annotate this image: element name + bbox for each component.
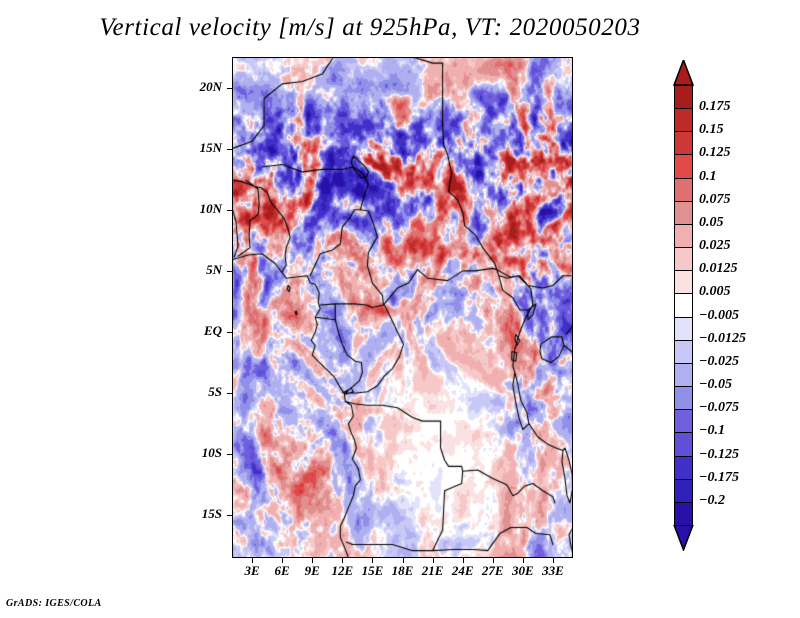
colorbar-segment [674,456,693,480]
y-axis-label: 20N [162,79,222,95]
y-axis-label: 5N [162,262,222,278]
y-axis-label: 10N [162,201,222,217]
colorbar-segment [674,108,693,132]
vertical-velocity-field [232,57,573,558]
y-axis-tick [227,515,232,516]
y-axis-tick [227,393,232,394]
map-plot-area [232,57,573,558]
colorbar-segment [674,317,693,341]
colorbar-segment [674,85,693,109]
y-axis-label: 5S [162,384,222,400]
page-title: Vertical velocity [m/s] at 925hPa, VT: 2… [0,14,740,42]
colorbar-tick-label: 0.005 [699,284,731,300]
colorbar-segment [674,409,693,433]
colorbar-tick-label: 0.0125 [699,261,738,277]
colorbar-segment [674,224,693,248]
colorbar-tick-label: −0.125 [699,447,739,463]
y-axis-label: 15N [162,140,222,156]
colorbar [674,85,693,525]
colorbar-tick-label: −0.005 [699,308,739,324]
colorbar-segment [674,363,693,387]
colorbar-segment [674,247,693,271]
x-axis-label: 33E [533,563,573,579]
y-axis-label: EQ [162,323,222,339]
colorbar-tick-label: −0.075 [699,400,739,416]
colorbar-tick-label: 0.125 [699,145,731,161]
colorbar-min-arrow-icon [673,525,694,551]
colorbar-segment [674,502,693,526]
y-axis-tick [227,88,232,89]
colorbar-segment [674,178,693,202]
colorbar-tick-label: −0.05 [699,377,732,393]
colorbar-tick-label: −0.175 [699,470,739,486]
colorbar-segment [674,340,693,364]
footer-credit: GrADS: IGES/COLA [6,598,102,609]
y-axis-tick [227,149,232,150]
colorbar-tick-label: −0.025 [699,354,739,370]
colorbar-tick-label: 0.075 [699,192,731,208]
y-axis-tick [227,271,232,272]
y-axis-tick [227,454,232,455]
colorbar-segment [674,432,693,456]
colorbar-tick-label: −0.1 [699,423,725,439]
colorbar-segment [674,201,693,225]
colorbar-tick-label: 0.15 [699,122,724,138]
colorbar-tick-label: 0.1 [699,169,717,185]
colorbar-max-arrow-icon [673,60,694,86]
colorbar-segment [674,154,693,178]
y-axis-tick [227,332,232,333]
colorbar-tick-label: 0.05 [699,215,724,231]
colorbar-segment [674,293,693,317]
colorbar-tick-label: 0.025 [699,238,731,254]
colorbar-tick-label: −0.0125 [699,331,746,347]
y-axis-label: 15S [162,506,222,522]
colorbar-tick-label: −0.2 [699,493,725,509]
colorbar-tick-label: 0.175 [699,99,731,115]
y-axis-label: 10S [162,445,222,461]
colorbar-segment [674,479,693,503]
colorbar-segment [674,131,693,155]
colorbar-segment [674,386,693,410]
colorbar-segment [674,270,693,294]
y-axis-tick [227,210,232,211]
